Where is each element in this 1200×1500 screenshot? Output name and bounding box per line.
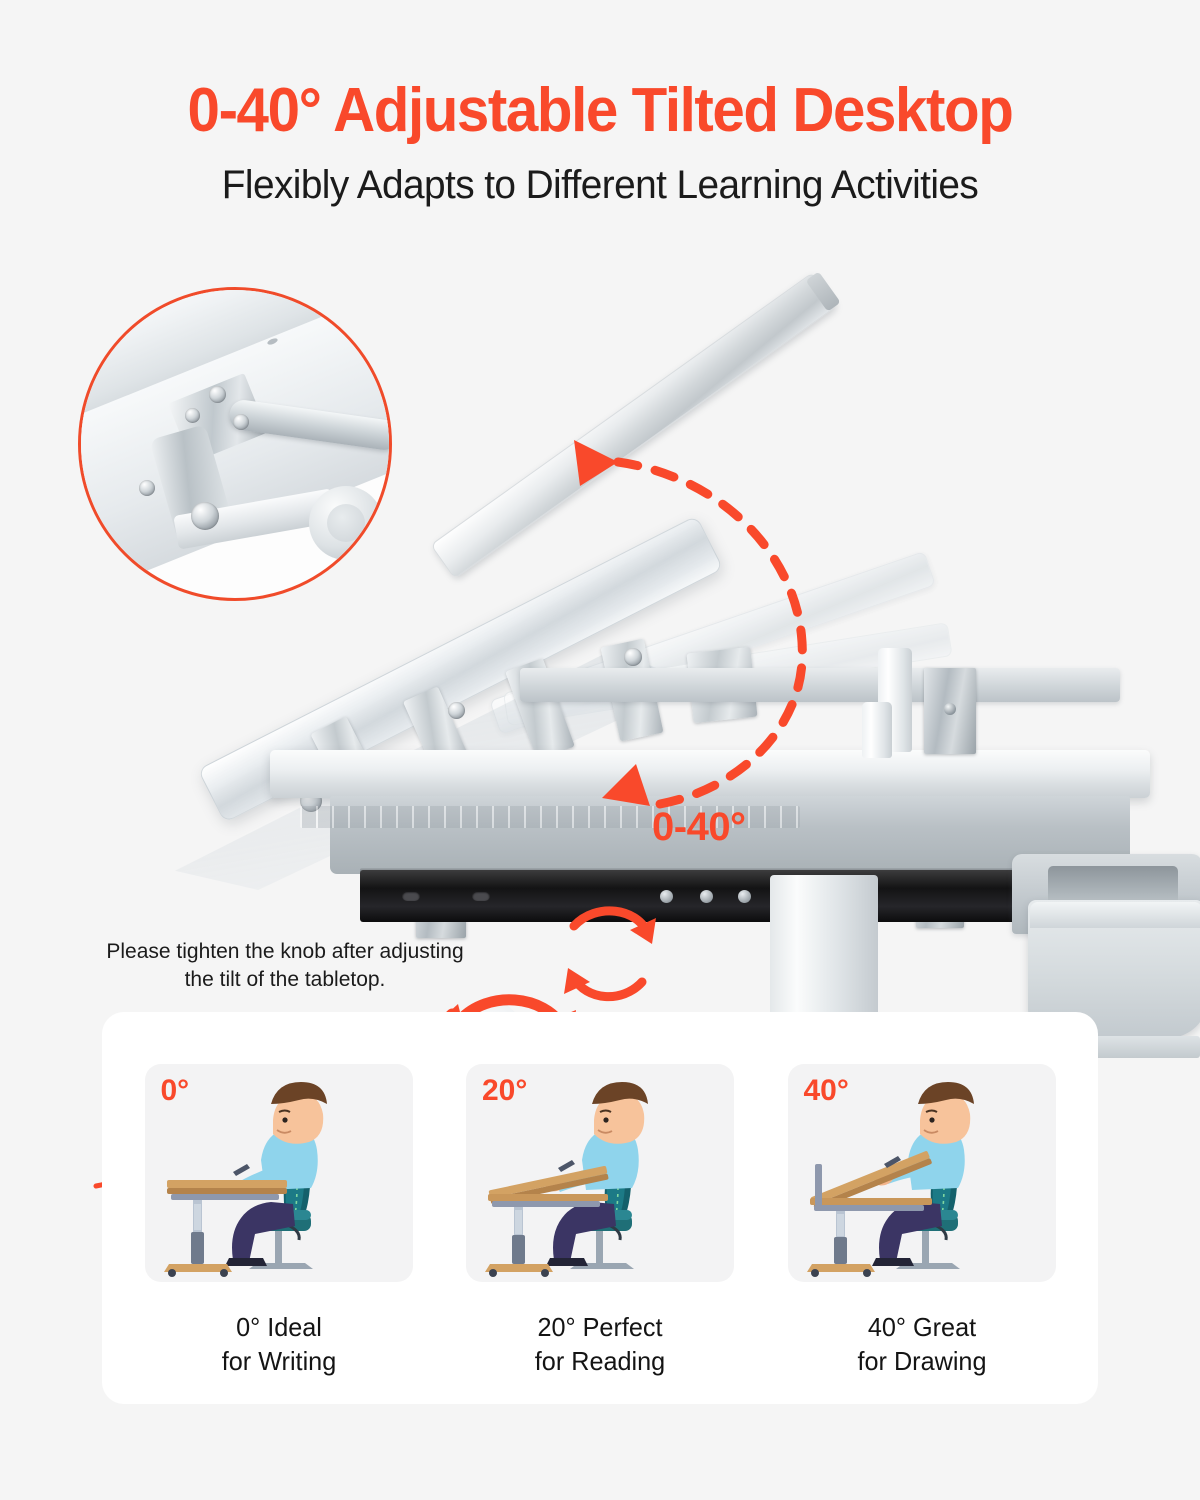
illustration-40deg: 40° bbox=[788, 1064, 1056, 1282]
screw-icon bbox=[185, 408, 200, 423]
rail-hole bbox=[402, 891, 420, 901]
panel-label-0deg-line1: 0° Ideal bbox=[138, 1310, 419, 1344]
screw-icon-large bbox=[191, 502, 219, 530]
panel-label-20deg: 20° Perfect for Reading bbox=[459, 1310, 740, 1379]
panel-label-20deg-line2: for Reading bbox=[459, 1344, 740, 1378]
inset-knob bbox=[309, 486, 383, 560]
rail-stud bbox=[738, 890, 751, 903]
page-subtitle: Flexibly Adapts to Different Learning Ac… bbox=[18, 163, 1182, 208]
storage-organizer-rim bbox=[1030, 902, 1200, 928]
mounting-bracket-right bbox=[924, 668, 976, 754]
page-title: 0-40° Adjustable Tilted Desktop bbox=[36, 78, 1164, 143]
tabletop-position-40deg bbox=[430, 272, 837, 579]
illustration-0deg: 0° bbox=[145, 1064, 413, 1282]
drawer-slide-rail bbox=[360, 870, 1120, 922]
illustration-20deg: 20° bbox=[466, 1064, 734, 1282]
knob-caption-line-2: the tilt of the tabletop. bbox=[60, 966, 510, 994]
panel-label-40deg-line2: for Drawing bbox=[781, 1344, 1062, 1378]
use-case-panels: 0° bbox=[102, 1012, 1098, 1404]
use-case-panel-0deg: 0° bbox=[134, 1064, 424, 1379]
knob-instruction-caption: Please tighten the knob after adjusting … bbox=[60, 938, 510, 995]
header: 0-40° Adjustable Tilted Desktop Flexibly… bbox=[0, 0, 1200, 208]
screw-icon bbox=[448, 702, 465, 719]
use-case-panel-40deg: 40° bbox=[777, 1064, 1067, 1379]
panel-label-20deg-line1: 20° Perfect bbox=[459, 1310, 740, 1344]
screw-icon bbox=[624, 648, 642, 666]
tilt-range-label: 0-40° bbox=[652, 805, 746, 850]
screw-icon bbox=[209, 386, 226, 403]
hinge-closeup-inset bbox=[78, 287, 392, 601]
angle-badge-20: 20° bbox=[482, 1074, 527, 1108]
rail-stud bbox=[660, 890, 673, 903]
rail-hole bbox=[472, 891, 490, 901]
angle-badge-0: 0° bbox=[161, 1074, 190, 1108]
desk-frame-bar-main bbox=[270, 750, 1150, 798]
screw-icon bbox=[233, 414, 249, 430]
panel-label-40deg-line1: 40° Great bbox=[781, 1310, 1062, 1344]
desk-frame-bar-upper bbox=[520, 668, 1120, 702]
panel-label-0deg: 0° Ideal for Writing bbox=[138, 1310, 419, 1379]
angle-badge-40: 40° bbox=[804, 1074, 849, 1108]
panel-label-0deg-line2: for Writing bbox=[138, 1344, 419, 1378]
use-case-card: 0° bbox=[102, 1012, 1098, 1404]
knob-caption-line-1: Please tighten the knob after adjusting bbox=[60, 938, 510, 966]
support-post-short bbox=[862, 702, 892, 758]
panel-label-40deg: 40° Great for Drawing bbox=[781, 1310, 1062, 1379]
screw-icon bbox=[139, 480, 155, 496]
rail-stud bbox=[700, 890, 713, 903]
use-case-panel-20deg: 20° bbox=[455, 1064, 745, 1379]
